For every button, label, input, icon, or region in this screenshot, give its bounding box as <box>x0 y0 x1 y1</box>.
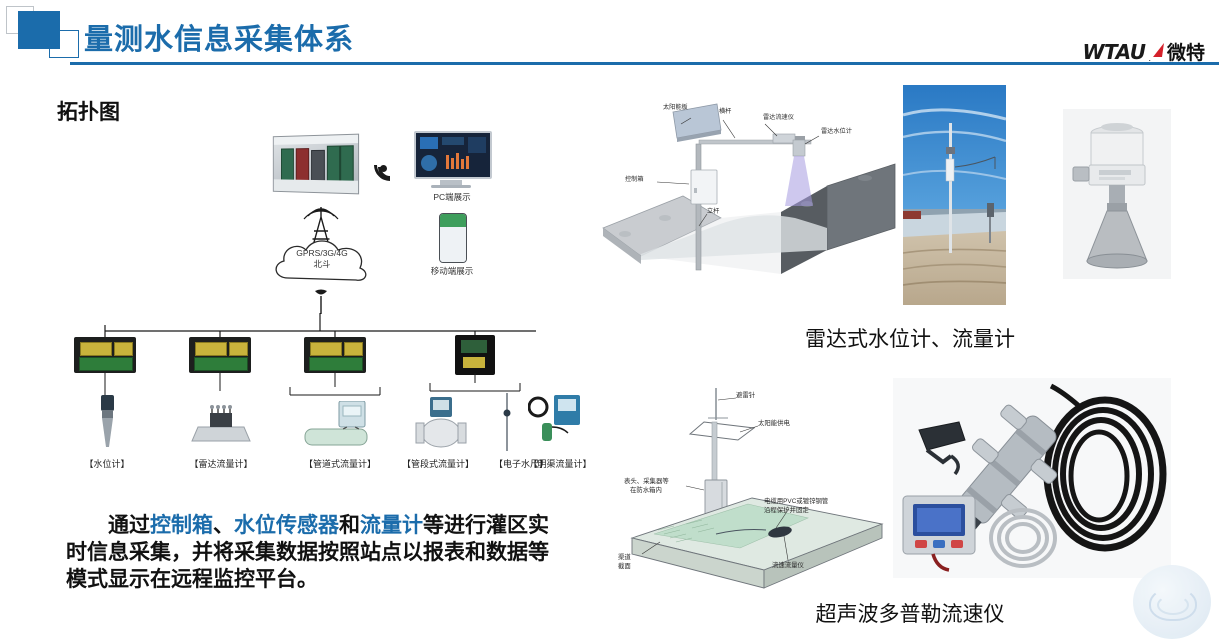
antenna-icon <box>312 288 330 314</box>
ultrasonic-doppler-product-photo <box>893 378 1171 578</box>
para-part-2: 、 <box>213 513 234 537</box>
cloud-label-line1: GPRS/3G/4G <box>296 248 348 258</box>
diagram-label-cable-conduit-2: 沿程保护并固定 <box>764 507 809 515</box>
rtu-controller-3 <box>304 337 366 373</box>
summary-paragraph: 通过控制箱、水位传感器和流量计等进行灌区实时信息采集，并将采集数据按照站点以报表… <box>66 512 566 593</box>
ultrasonic-station-diagram: 避雷针 太阳能供电 表头、采集器等 在防水箱内 电缆用PVC或镀锌钢管 沿程保护… <box>612 378 902 590</box>
para-part-3: 和 <box>339 513 360 537</box>
radar-station-diagram: 太阳能板 横杆 雷达流速仪 雷达水位计 控制箱 立杆 <box>595 78 905 293</box>
para-part-1: 通过 <box>108 513 150 537</box>
diagram-label-control-box: 控制箱 <box>625 176 644 183</box>
diagram-label-lightning-rod: 避雷针 <box>736 392 755 400</box>
page-title: 量测水信息采集体系 <box>84 16 354 58</box>
mobile-display-caption: 移动端展示 <box>406 265 498 277</box>
diagram-label-radar-velocity-meter: 雷达流速仪 <box>763 114 794 121</box>
cloud-label-line2: 北斗 <box>313 259 330 269</box>
diagram-label-solar-power: 太阳能供电 <box>758 420 790 428</box>
wifi-signal-icon <box>372 147 406 179</box>
section-label-topology: 拓扑图 <box>57 96 120 126</box>
open-channel-flow-meter-icon <box>528 393 582 451</box>
para-highlight-2: 水位传感器 <box>234 513 339 537</box>
logo-dot-icon: . <box>1148 53 1151 63</box>
rtu-controller-2 <box>189 337 251 373</box>
diagram-label-solar-panel: 太阳能板 <box>663 104 688 111</box>
field-installation-photo <box>903 85 1006 305</box>
diagram-label-upright-pole: 立杆 <box>707 208 719 215</box>
right-bottom-caption: 超声波多普勒流速仪 <box>700 598 1120 628</box>
server-room-icon <box>273 134 359 195</box>
sensor-caption-1: 【雷达流量计】 <box>180 457 262 470</box>
header-square-outline-icon <box>49 30 79 58</box>
sensor-caption-2: 【管道式流量计】 <box>292 457 388 470</box>
logo-wordmark: WTAU <box>1082 40 1145 64</box>
topology-diagram: PC端展示 移动端展示 GPRS/3G/4G 北斗 <box>60 125 580 485</box>
diagram-label-channel: 渠道 <box>618 554 631 562</box>
sensor-caption-5: 【明渠流量计】 <box>512 457 608 470</box>
mobile-phone-icon <box>439 213 467 263</box>
pipeline-flow-meter-icon <box>303 401 379 451</box>
diagram-label-radar-level-meter: 雷达水位计 <box>821 128 852 135</box>
diagram-label-meter-head: 表头、采集器等 <box>624 478 669 486</box>
diagram-label-cross-section: 截面 <box>618 563 631 571</box>
pc-monitor-icon <box>414 131 488 185</box>
radar-flow-meter-icon <box>188 405 254 451</box>
water-level-sensor-icon <box>90 393 124 451</box>
logo-chinese-name: 微特 <box>1167 38 1205 65</box>
para-highlight-1: 控制箱 <box>150 513 213 537</box>
rtu-controller-4 <box>455 335 495 375</box>
diagram-label-cable-conduit-1: 电缆用PVC或镀锌钢管 <box>764 498 828 506</box>
diagram-label-velocity-flow-meter: 流速流量仪 <box>772 562 804 570</box>
radar-sensor-product-photo <box>1063 109 1171 279</box>
pipe-section-flow-meter-icon <box>408 397 470 451</box>
electronic-water-gauge-icon <box>500 393 514 451</box>
rtu-device-row <box>60 315 580 375</box>
sensor-caption-3: 【管段式流量计】 <box>390 457 486 470</box>
brand-logo: WTAU . 微特 <box>1082 38 1205 65</box>
cloud-network-label: GPRS/3G/4G 北斗 <box>266 248 378 269</box>
logo-swoosh-icon <box>1154 43 1164 61</box>
slide-root: 量测水信息采集体系 WTAU . 微特 拓扑图 <box>0 0 1219 643</box>
pc-display-caption: PC端展示 <box>406 191 498 203</box>
diagram-label-waterproof-box: 在防水箱内 <box>630 487 662 495</box>
header-divider <box>70 62 1219 65</box>
rtu-controller-1 <box>74 337 136 373</box>
corner-watermark-icon <box>1133 565 1211 639</box>
para-highlight-3: 流量计 <box>360 513 423 537</box>
diagram-label-cross-bar: 横杆 <box>719 108 731 115</box>
right-top-caption: 雷达式水位计、流量计 <box>700 323 1120 353</box>
sensor-caption-0: 【水位计】 <box>72 457 142 470</box>
